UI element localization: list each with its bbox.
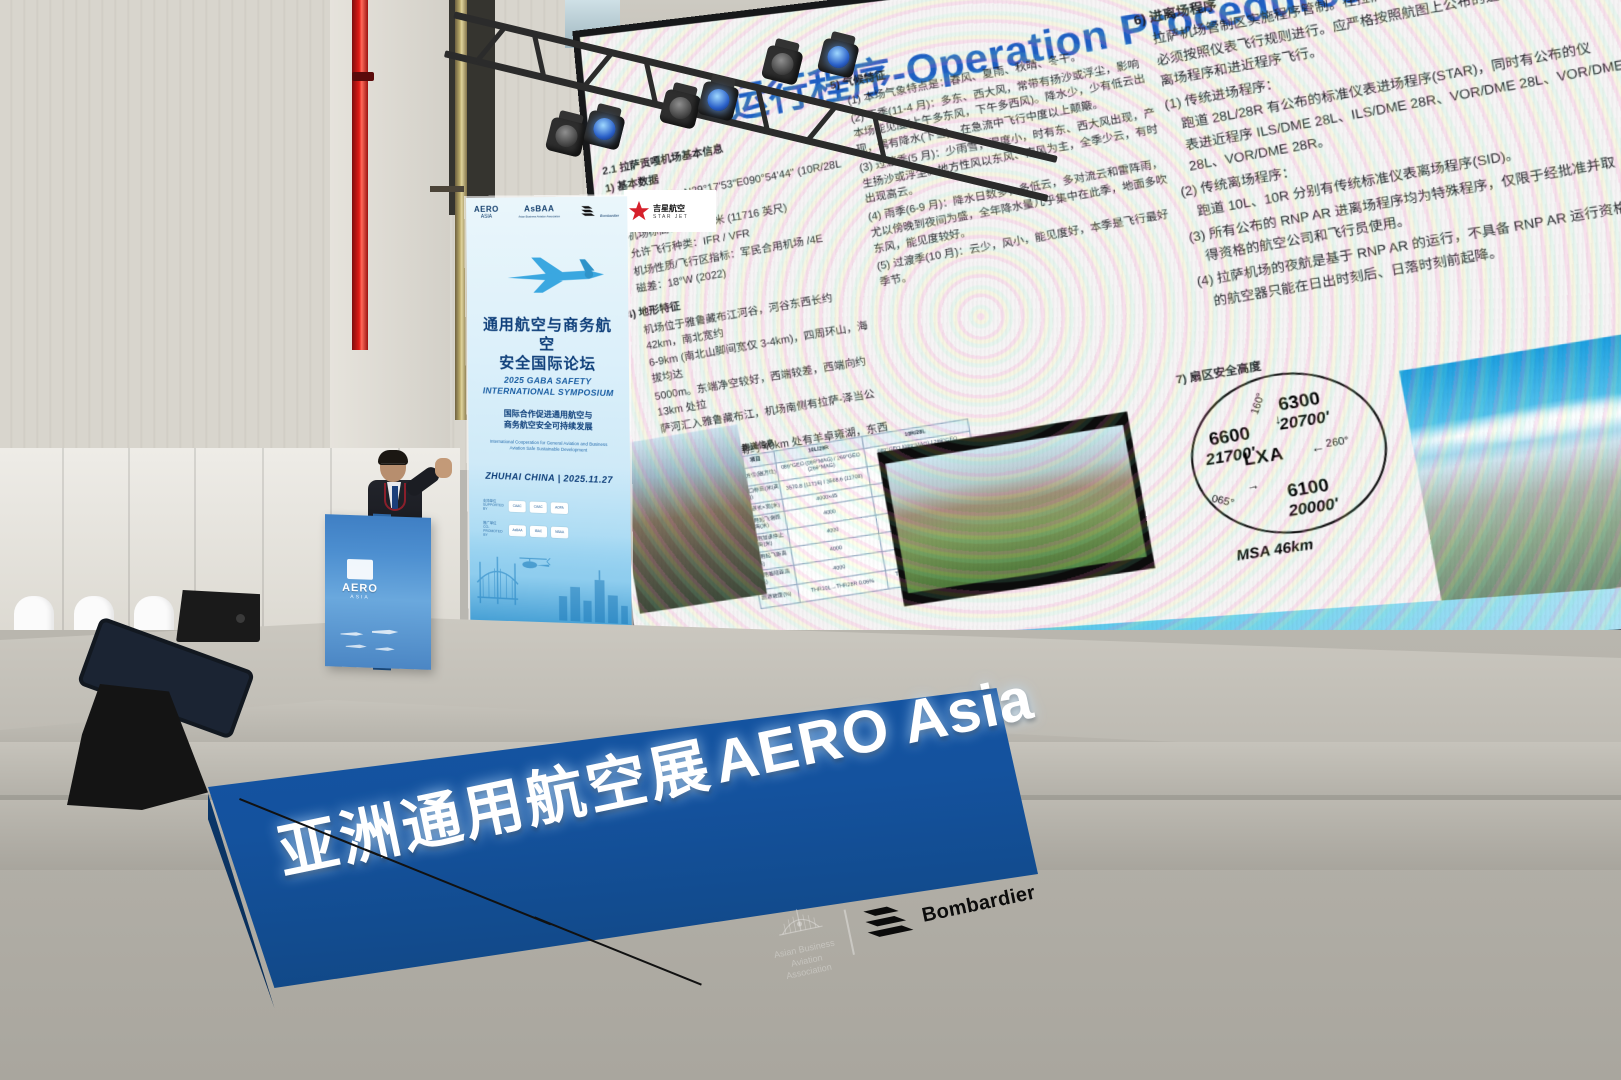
podium-aircraft-graphics-icon xyxy=(337,623,407,657)
star-jet-star-icon xyxy=(628,200,650,222)
truss-brace xyxy=(805,105,837,142)
photo-scene: 运行程序-Operation Procedures 2.1 拉萨贡嘎机场基本信息… xyxy=(0,0,1621,1080)
presenter-hand xyxy=(435,458,452,478)
truss-brace xyxy=(475,26,507,63)
msa-bearing-160: 160° xyxy=(1249,392,1268,416)
starjet-banner-text: 吉星航空 STAR JET xyxy=(653,203,688,220)
speaker-podium: AERO ASIA xyxy=(325,514,431,670)
hall-wall-section xyxy=(330,0,450,470)
msa-circle: LXA 6300 20700' 6600 21700' 6100 20000' … xyxy=(1178,358,1401,547)
city-skyline-illustration-icon xyxy=(555,562,629,625)
poster-subtitle-cn: 国际合作促进通用航空与 商务航空安全可持续发展 xyxy=(480,408,617,433)
starjet-en: STAR JET xyxy=(653,214,688,220)
supporters-label: 支持单位 SUPPORTED BY xyxy=(483,499,505,512)
procedure-2-num: (2) xyxy=(1179,182,1198,199)
msa-diagram: 7) 扇区安全高度 LXA 6300 20700' 6600 21700' 61… xyxy=(1174,335,1428,568)
presenter-glasses-icon xyxy=(381,463,405,468)
poster-title-cn: 通用航空与商务航空 安全国际论坛 xyxy=(477,316,619,375)
starjet-banner-logo: 吉星航空 STAR JET xyxy=(624,190,716,232)
brass-pipe-bracket xyxy=(430,186,464,192)
bridge-illustration-icon xyxy=(476,552,520,607)
poster-top-logos: AERO ASIA AsBAA Asian Business Aviation … xyxy=(466,196,627,220)
stage-monitor-speaker xyxy=(176,590,260,642)
msa-arrow-right-icon: → xyxy=(1245,477,1261,494)
aero-logo-sub: ASIA xyxy=(481,214,492,220)
stage-front-sign: 亚洲通用航空展 AERO Asia Asian Business Aviatio… xyxy=(208,688,1038,988)
procedure-3-num: (3) xyxy=(1187,227,1206,244)
poster-title-cn-line1: 通用航空与商务航空 xyxy=(477,316,618,356)
presenter-lanyard xyxy=(384,483,406,511)
bombardier-logo: Bombardier xyxy=(580,205,619,220)
asbaa-logo-text: AsBAA xyxy=(505,205,574,214)
poster-title-en: 2025 GABA SAFETY INTERNATIONAL SYMPOSIUM xyxy=(478,374,619,399)
poster-supporters-row: 支持单位 SUPPORTED BY CAAC CAAC AOPA xyxy=(483,499,618,517)
bombardier-chevron-icon xyxy=(580,205,599,217)
sign-logo-divider xyxy=(844,909,855,954)
aero-asia-logo: AERO ASIA xyxy=(474,206,499,221)
photo-clouds xyxy=(1409,382,1621,462)
podium-logo-mark xyxy=(347,559,373,580)
confidence-monitor xyxy=(28,640,238,810)
poster-title-cn-line2: 安全国际论坛 xyxy=(477,354,618,375)
bombardier-chevron-icon xyxy=(860,898,921,948)
booth-wall-seam xyxy=(62,448,64,658)
supporters-label-en: SUPPORTED BY xyxy=(483,503,505,512)
poster-subtitle-en: International Cooperation for General Av… xyxy=(482,438,615,453)
red-pipe-joint xyxy=(352,72,374,81)
runway-aerial-photo-image xyxy=(885,425,1146,593)
poster-date-location: ZHUHAI CHINA | 2025.11.27 xyxy=(479,470,620,485)
procedure-4-num: (4) xyxy=(1196,272,1215,289)
msa-bearing-260: 260° xyxy=(1325,435,1350,450)
msa-bearing-065: 065° xyxy=(1210,493,1235,509)
podium-aero-asia-logo: AERO ASIA xyxy=(339,559,381,601)
slide-right-column: 6) 进离场程序 拉萨机场管制区实施程序管制。在拉萨塔台管制区内飞行的航空器 必… xyxy=(1132,0,1621,318)
starjet-cn: 吉星航空 xyxy=(653,203,688,214)
supporter-chip-2: AOPA xyxy=(551,502,568,514)
podium-logo-text: AERO xyxy=(339,582,381,595)
asbaa-logo-sub: Asian Business Aviation Association xyxy=(519,215,561,218)
truss-brace xyxy=(582,52,614,89)
helicopter-illustration-icon xyxy=(517,554,551,572)
asbaa-sign-logo: Asian Business Aviation Association xyxy=(763,899,842,984)
red-pipe xyxy=(352,0,368,350)
bombardier-logo-text: Bombardier xyxy=(600,214,619,218)
event-poster-banner: AERO ASIA AsBAA Asian Business Aviation … xyxy=(466,196,632,648)
supporter-chip-0: CAAC xyxy=(509,500,526,512)
asbaa-logo: AsBAA Asian Business Aviation Associatio… xyxy=(505,205,574,220)
procedure-1-num: (1) xyxy=(1163,95,1182,112)
lhasa-valley-panorama-photo xyxy=(1399,328,1621,613)
msa-arrow-left-icon: ← xyxy=(1310,439,1326,456)
business-jet-silhouette-icon xyxy=(500,252,612,299)
bombardier-sign-text: Bombardier xyxy=(920,882,1038,928)
supporter-chip-1: CAAC xyxy=(530,501,547,513)
speaker-port xyxy=(236,614,245,623)
poster-subtitle-cn-line2: 商务航空安全可持续发展 xyxy=(480,419,617,434)
poster-title-en-line2: INTERNATIONAL SYMPOSIUM xyxy=(478,385,619,399)
